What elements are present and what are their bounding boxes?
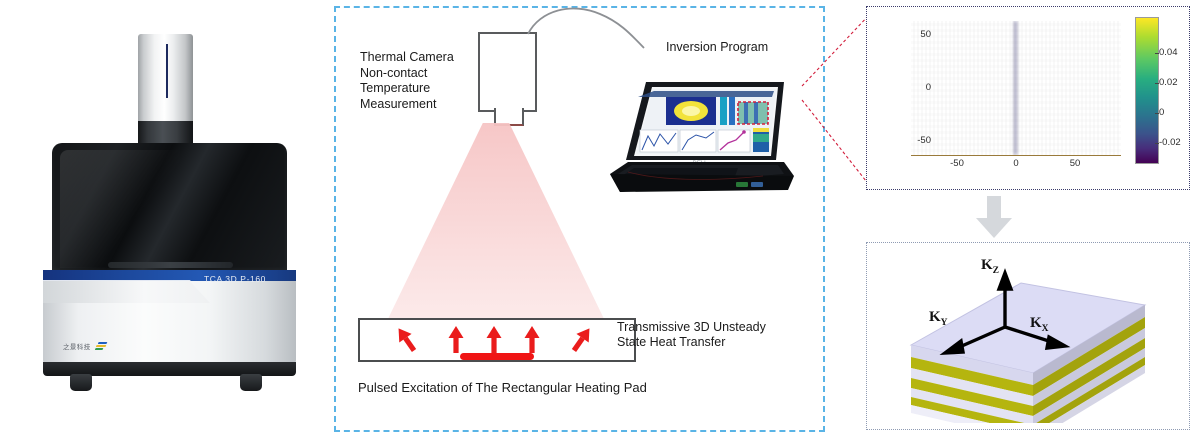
instrument-foot-right: [240, 374, 262, 391]
instrument-model-label: TCA 3D P-160: [180, 274, 290, 284]
colorbar-tick-0: 0.04: [1159, 47, 1178, 58]
heatmap-xtick-0: -50: [942, 158, 972, 169]
down-block-arrow-icon: [974, 196, 1014, 238]
infrared-light-cone: [386, 123, 606, 323]
ky-axis-label: KY: [929, 309, 948, 328]
ky-main: K: [929, 309, 941, 325]
thermal-camera-label: Thermal Camera Non-contact Temperature M…: [360, 50, 454, 112]
tri-stripe-logo-icon: [95, 342, 108, 351]
heatmap-xtick-2: 50: [1060, 158, 1090, 169]
laptop-icon: DELL: [588, 64, 803, 214]
heatmap-xtick-1: 0: [1001, 158, 1031, 169]
ky-sub: Y: [941, 318, 948, 328]
kx-axis-label: KX: [1030, 315, 1049, 334]
inversion-program-label: Inversion Program: [666, 40, 768, 56]
brand-logo: 之景科技: [63, 341, 108, 351]
kz-axis-label: KZ: [981, 257, 999, 276]
heatmap-ytick-2: -50: [905, 135, 931, 146]
instrument-foot-left: [70, 374, 92, 391]
anisotropic-structure-panel: KZ KY KX: [866, 242, 1190, 430]
kx-main: K: [1030, 315, 1042, 331]
layered-composite-block-icon: [873, 249, 1183, 423]
brand-name-cn: 之景科技: [63, 341, 91, 351]
kz-main: K: [981, 257, 993, 273]
heatmap-ytick-0: 50: [905, 29, 931, 40]
colorbar-tick-3: -0.02: [1159, 137, 1181, 148]
instrument-photo: TCA 3D P-160 之景科技: [0, 0, 330, 434]
hood-lip: [108, 262, 233, 268]
colorbar-tick-2: 0: [1159, 107, 1164, 118]
kz-sub: Z: [993, 266, 999, 276]
pulsed-excitation-caption: Pulsed Excitation of The Rectangular Hea…: [358, 380, 647, 396]
kx-sub: X: [1042, 324, 1049, 334]
heatmap-colorbar: [1135, 17, 1159, 164]
heating-pad-icon: [460, 353, 534, 360]
hood-gloss-highlight: [60, 150, 180, 268]
camera-cable-icon: [526, 8, 646, 48]
instrument-top-column: [138, 34, 193, 122]
measurement-schematic-panel: Thermal Camera Non-contact Temperature M…: [334, 6, 825, 432]
heatmap-plot-area: [911, 21, 1121, 156]
heat-transfer-label: Transmissive 3D Unsteady State Heat Tran…: [617, 320, 766, 350]
column-slot-line: [166, 44, 168, 98]
heat-flux-arrows: [384, 324, 614, 354]
inverted-field-heatmap: 50 0 -50 -50 0 50 0.04 0.02 0 -0.02: [866, 6, 1190, 190]
heatmap-ytick-1: 0: [905, 82, 931, 93]
colorbar-tick-1: 0.02: [1159, 77, 1178, 88]
heatmap-center-streak: [1014, 21, 1017, 155]
